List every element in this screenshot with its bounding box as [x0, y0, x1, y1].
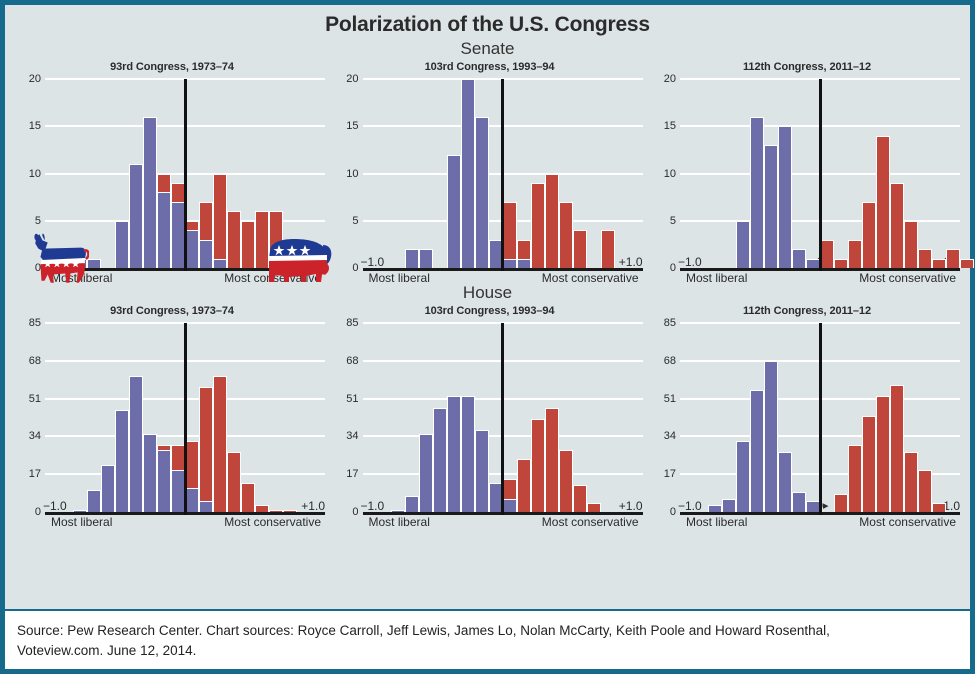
bar-dem	[143, 434, 157, 512]
y-axis-labels: 05101520	[335, 79, 361, 271]
bar-rep	[890, 183, 904, 268]
bar-rep	[904, 221, 918, 268]
bar-dem	[199, 501, 213, 512]
bar-rep	[517, 459, 531, 512]
bar-dem	[447, 155, 461, 268]
x-sublabel-liberal: Most liberal	[369, 271, 430, 285]
bar-dem	[129, 164, 143, 268]
bar-rep	[227, 211, 241, 268]
plot-canvas	[680, 323, 960, 515]
panel-title: 112th Congress, 2011–12	[652, 61, 962, 73]
y-tick-label: 10	[346, 168, 358, 180]
bar-dem	[764, 361, 778, 512]
source-line-1: Source: Pew Research Center. Chart sourc…	[17, 621, 958, 641]
bar-rep	[876, 396, 890, 512]
x-sublabel-liberal: Most liberal	[686, 271, 747, 285]
y-tick-label: 0	[670, 262, 676, 274]
y-tick-label: 20	[29, 73, 41, 85]
y-tick-label: 20	[346, 73, 358, 85]
center-zero-line	[184, 79, 187, 271]
x-sublabel-conservative: Most conservative	[859, 515, 956, 529]
y-tick-label: 34	[29, 430, 41, 442]
y-tick-label: 17	[664, 468, 676, 480]
y-axis-labels: 05101520	[652, 79, 678, 271]
bar-rep	[834, 494, 848, 512]
bar-dem	[419, 249, 433, 268]
plot-canvas	[363, 79, 643, 271]
bar-rep	[601, 230, 615, 268]
y-tick-label: 17	[29, 468, 41, 480]
panel-senate-103: 103rd Congress, 1993–94 05101520 −1.0 ◂0…	[335, 61, 645, 271]
y-tick-label: 5	[352, 215, 358, 227]
y-tick-label: 17	[346, 468, 358, 480]
plot-wrap: 05101520	[652, 79, 962, 271]
bar-dem	[199, 240, 213, 268]
bar-rep	[545, 174, 559, 269]
bar-dem	[503, 499, 517, 512]
bar-rep	[862, 202, 876, 268]
panel-house-112: 112th Congress, 2011–12 01734516885 −1.0…	[652, 305, 962, 515]
bar-dem	[447, 396, 461, 512]
bar-dem	[750, 117, 764, 268]
bar-dem	[475, 430, 489, 512]
infographic-root: Polarization of the U.S. Congress Senate…	[0, 0, 975, 674]
democratic-donkey-icon	[27, 233, 89, 285]
y-tick-label: 10	[664, 168, 676, 180]
y-axis-labels: 01734516885	[335, 323, 361, 515]
plot-canvas	[45, 323, 325, 515]
bar-rep	[918, 470, 932, 512]
y-tick-label: 51	[29, 393, 41, 405]
plot-canvas	[363, 323, 643, 515]
y-tick-label: 34	[346, 430, 358, 442]
bar-rep	[545, 408, 559, 513]
y-tick-label: 68	[664, 355, 676, 367]
bar-rep	[848, 445, 862, 512]
panel-title: 93rd Congress, 1973–74	[17, 305, 327, 317]
y-tick-label: 85	[346, 317, 358, 329]
bar-dem	[115, 221, 129, 268]
bar-dem	[764, 145, 778, 268]
bar-dem	[433, 408, 447, 513]
bar-rep	[876, 136, 890, 268]
center-zero-line	[819, 79, 822, 271]
panel-title: 93rd Congress, 1973–74	[17, 61, 327, 73]
bar-dem	[87, 490, 101, 512]
bar-rep	[199, 387, 213, 512]
bar-dem	[405, 496, 419, 512]
bar-dem	[419, 434, 433, 512]
source-footer: Source: Pew Research Center. Chart sourc…	[5, 609, 970, 669]
bar-rep	[213, 174, 227, 269]
x-tick-left: −1.0	[361, 255, 385, 269]
bar-dem	[475, 117, 489, 268]
bar-dem	[750, 390, 764, 512]
bar-rep	[559, 450, 573, 512]
x-sublabel-liberal: Most liberal	[369, 515, 430, 529]
bar-dem	[405, 249, 419, 268]
y-tick-label: 15	[346, 120, 358, 132]
x-tick-right: +1.0	[619, 499, 643, 513]
source-line-2: Voteview.com. June 12, 2014.	[17, 641, 958, 661]
y-tick-label: 5	[670, 215, 676, 227]
panel-house-93: 93rd Congress, 1973–74 01734516885 −1.0 …	[17, 305, 327, 515]
y-tick-label: 0	[35, 506, 41, 518]
y-tick-label: 15	[664, 120, 676, 132]
bar-dem	[143, 117, 157, 268]
bar-rep	[255, 505, 269, 512]
y-tick-label: 34	[664, 430, 676, 442]
chamber-title-senate: Senate	[5, 39, 970, 59]
y-tick-label: 85	[664, 317, 676, 329]
senate-panel-row: 93rd Congress, 1973–74 05101520 −1.0 ◂0▸…	[5, 61, 970, 271]
bar-dem	[792, 249, 806, 268]
bar-dem	[87, 259, 101, 268]
bar-rep	[269, 510, 283, 512]
x-tick-left: −1.0	[361, 499, 385, 513]
bar-dem	[185, 488, 199, 512]
center-zero-line	[184, 323, 187, 515]
y-tick-label: 85	[29, 317, 41, 329]
x-tick-right: +1.0	[619, 255, 643, 269]
bar-rep	[834, 259, 848, 268]
x-sublabel-liberal: Most liberal	[51, 515, 112, 529]
y-tick-label: 5	[35, 215, 41, 227]
bar-dem	[778, 126, 792, 268]
plot-canvas	[680, 79, 960, 271]
bar-dem	[157, 192, 171, 268]
bar-rep	[227, 452, 241, 512]
x-tick-left: −1.0	[678, 499, 702, 513]
x-sublabel-conservative: Most conservative	[542, 515, 639, 529]
bar-dem	[461, 79, 475, 268]
x-sublabel-conservative: Most conservative	[859, 271, 956, 285]
plot-wrap: 05101520	[335, 79, 645, 271]
bar-rep	[820, 240, 834, 268]
bar-rep	[904, 452, 918, 512]
bar-rep	[932, 503, 946, 512]
bar-dem	[157, 450, 171, 512]
bar-dem	[792, 492, 806, 512]
x-sublabel-conservative: Most conservative	[224, 515, 321, 529]
bar-dem	[722, 499, 736, 512]
y-tick-label: 68	[346, 355, 358, 367]
x-tick-right: +1.0	[301, 499, 325, 513]
bar-dem	[115, 410, 129, 512]
plot-wrap: 01734516885	[17, 323, 327, 515]
panel-title: 103rd Congress, 1993–94	[335, 61, 645, 73]
bar-rep	[890, 385, 904, 512]
bar-dem	[517, 259, 531, 268]
bar-dem	[73, 510, 87, 512]
center-zero-line	[819, 323, 822, 515]
bar-rep	[241, 483, 255, 512]
panel-title: 112th Congress, 2011–12	[652, 305, 962, 317]
bar-rep	[862, 416, 876, 512]
bar-dem	[736, 221, 750, 268]
y-tick-label: 20	[664, 73, 676, 85]
bar-rep	[587, 503, 601, 512]
bar-rep	[932, 259, 946, 268]
house-panel-row: 93rd Congress, 1973–74 01734516885 −1.0 …	[5, 305, 970, 515]
bar-rep	[573, 485, 587, 512]
bar-dem	[129, 376, 143, 512]
bar-dem	[778, 452, 792, 512]
panel-senate-112: 112th Congress, 2011–12 05101520 −1.0 ◂0…	[652, 61, 962, 271]
y-tick-label: 15	[29, 120, 41, 132]
bar-rep	[946, 249, 960, 268]
bar-dem	[736, 441, 750, 512]
bar-dem	[461, 396, 475, 512]
bar-dem	[213, 259, 227, 268]
bar-rep	[573, 230, 587, 268]
y-tick-label: 0	[352, 506, 358, 518]
center-zero-line	[501, 79, 504, 271]
panel-title: 103rd Congress, 1993–94	[335, 305, 645, 317]
x-tick-left: −1.0	[43, 499, 67, 513]
bar-rep	[283, 510, 297, 512]
bar-rep	[918, 249, 932, 268]
bar-rep	[531, 419, 545, 512]
bar-rep	[531, 183, 545, 268]
bar-dem	[503, 259, 517, 268]
y-tick-label: 51	[664, 393, 676, 405]
y-axis-labels: 01734516885	[17, 323, 43, 515]
y-tick-label: 68	[29, 355, 41, 367]
y-tick-label: 0	[352, 262, 358, 274]
y-tick-label: 10	[29, 168, 41, 180]
bar-rep	[213, 376, 227, 512]
center-zero-line	[501, 323, 504, 515]
y-tick-label: 51	[346, 393, 358, 405]
bar-rep	[559, 202, 573, 268]
bar-rep	[241, 221, 255, 268]
x-tick-left: −1.0	[678, 255, 702, 269]
bar-dem	[708, 505, 722, 512]
x-sublabel-conservative: Most conservative	[542, 271, 639, 285]
bar-dem	[391, 510, 405, 512]
republican-elephant-icon	[263, 233, 333, 285]
panel-house-103: 103rd Congress, 1993–94 01734516885 −1.0…	[335, 305, 645, 515]
y-axis-labels: 01734516885	[652, 323, 678, 515]
plot-wrap: 01734516885	[652, 323, 962, 515]
bar-dem	[185, 230, 199, 268]
chart-area: Polarization of the U.S. Congress Senate…	[5, 5, 970, 613]
plot-wrap: 01734516885	[335, 323, 645, 515]
y-tick-label: 0	[670, 506, 676, 518]
bar-dem	[101, 465, 115, 512]
bar-rep	[960, 259, 974, 268]
bar-rep	[848, 240, 862, 268]
x-sublabel-liberal: Most liberal	[686, 515, 747, 529]
page-title: Polarization of the U.S. Congress	[5, 5, 970, 37]
